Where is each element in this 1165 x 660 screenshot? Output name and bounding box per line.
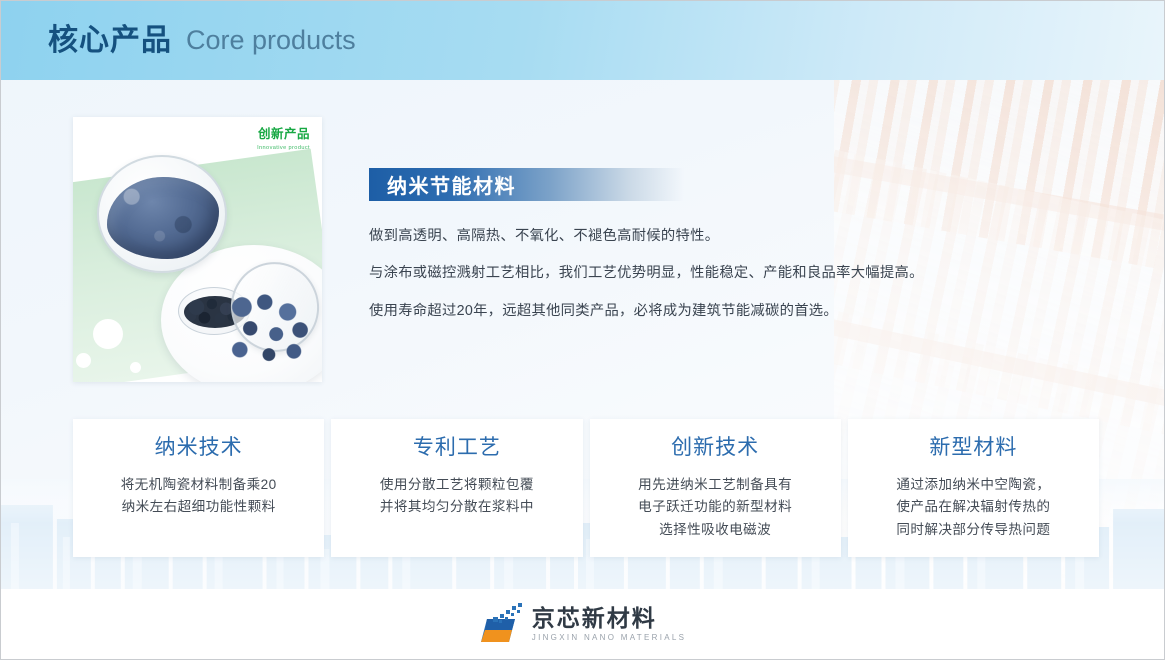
- section-heading-bar: 纳米节能材料: [369, 168, 684, 201]
- page-footer: 京芯新材料 JINGXIN NANO MATERIALS: [1, 589, 1164, 659]
- product-caption-en: Innovative product: [257, 145, 310, 151]
- feature-card-line: 通过添加纳米中空陶瓷，: [896, 474, 1050, 496]
- company-logo: 京芯新材料 JINGXIN NANO MATERIALS: [479, 603, 686, 645]
- page-title-cn: 核心产品: [48, 26, 172, 56]
- logo-name-cn: 京芯新材料: [532, 606, 686, 630]
- feature-card-title: 纳米技术: [155, 437, 243, 458]
- feature-card-body: 用先进纳米工艺制备具有 电子跃迁功能的新型材料 选择性吸收电磁波: [638, 474, 792, 541]
- feature-card-body: 将无机陶瓷材料制备乘20 纳米左右超细功能性颗料: [121, 474, 277, 519]
- section-body-copy: 做到高透明、高隔热、不氧化、不褪色高耐候的特性。 与涂布或磁控溅射工艺相比，我们…: [369, 229, 1019, 341]
- body-paragraph: 与涂布或磁控溅射工艺相比，我们工艺优势明显，性能稳定、产能和良品率大幅提高。: [369, 266, 1019, 280]
- feature-card-line: 电子跃迁功能的新型材料: [638, 496, 792, 518]
- feature-card-line: 并将其均匀分散在浆料中: [380, 496, 534, 518]
- feature-card-line: 同时解决部分传导热问题: [896, 519, 1050, 541]
- feature-card-line: 用先进纳米工艺制备具有: [638, 474, 792, 496]
- feature-card-line: 使用分散工艺将颗粒包覆: [380, 474, 534, 496]
- page-title-en: Core products: [186, 27, 356, 54]
- body-paragraph: 使用寿命超过20年，远超其他同类产品，必将成为建筑节能减碳的首选。: [369, 304, 1019, 318]
- blue-powder-prop: [107, 177, 219, 259]
- product-image-card: 创新产品 Innovative product: [73, 117, 322, 382]
- logo-wordmark: 京芯新材料 JINGXIN NANO MATERIALS: [532, 606, 686, 641]
- feature-card-body: 使用分散工艺将颗粒包覆 并将其均匀分散在浆料中: [380, 474, 534, 519]
- feature-card[interactable]: 新型材料 通过添加纳米中空陶瓷， 使产品在解决辐射传热的 同时解决部分传导热问题: [848, 419, 1099, 557]
- large-petri-dish-prop: [97, 155, 227, 273]
- feature-card-title: 专利工艺: [413, 437, 501, 458]
- body-paragraph: 做到高透明、高隔热、不氧化、不褪色高耐候的特性。: [369, 229, 1019, 243]
- slide-canvas: 核心产品 Core products 创新产品 Innovative produ…: [0, 0, 1165, 660]
- page-header: 核心产品 Core products: [1, 1, 1164, 80]
- feature-card[interactable]: 专利工艺 使用分散工艺将颗粒包覆 并将其均匀分散在浆料中: [331, 419, 582, 557]
- logo-mark-icon: [479, 603, 523, 645]
- feature-card-line: 选择性吸收电磁波: [638, 519, 792, 541]
- feature-card-line: 将无机陶瓷材料制备乘20: [121, 474, 277, 496]
- feature-card[interactable]: 创新技术 用先进纳米工艺制备具有 电子跃迁功能的新型材料 选择性吸收电磁波: [590, 419, 841, 557]
- feature-card-title: 新型材料: [929, 437, 1017, 458]
- feature-card-title: 创新技术: [671, 437, 759, 458]
- feature-card-body: 通过添加纳米中空陶瓷， 使产品在解决辐射传热的 同时解决部分传导热问题: [896, 474, 1050, 541]
- product-image-caption: 创新产品 Innovative product: [257, 127, 310, 151]
- section-heading-label: 纳米节能材料: [369, 170, 516, 199]
- product-caption-cn: 创新产品: [257, 127, 310, 142]
- feature-card-row: 纳米技术 将无机陶瓷材料制备乘20 纳米左右超细功能性颗料 专利工艺 使用分散工…: [73, 419, 1099, 557]
- logo-name-en: JINGXIN NANO MATERIALS: [532, 633, 686, 642]
- feature-card-line: 使产品在解决辐射传热的: [896, 496, 1050, 518]
- feature-card-line: 纳米左右超细功能性颗料: [121, 496, 277, 518]
- feature-card[interactable]: 纳米技术 将无机陶瓷材料制备乘20 纳米左右超细功能性颗料: [73, 419, 324, 557]
